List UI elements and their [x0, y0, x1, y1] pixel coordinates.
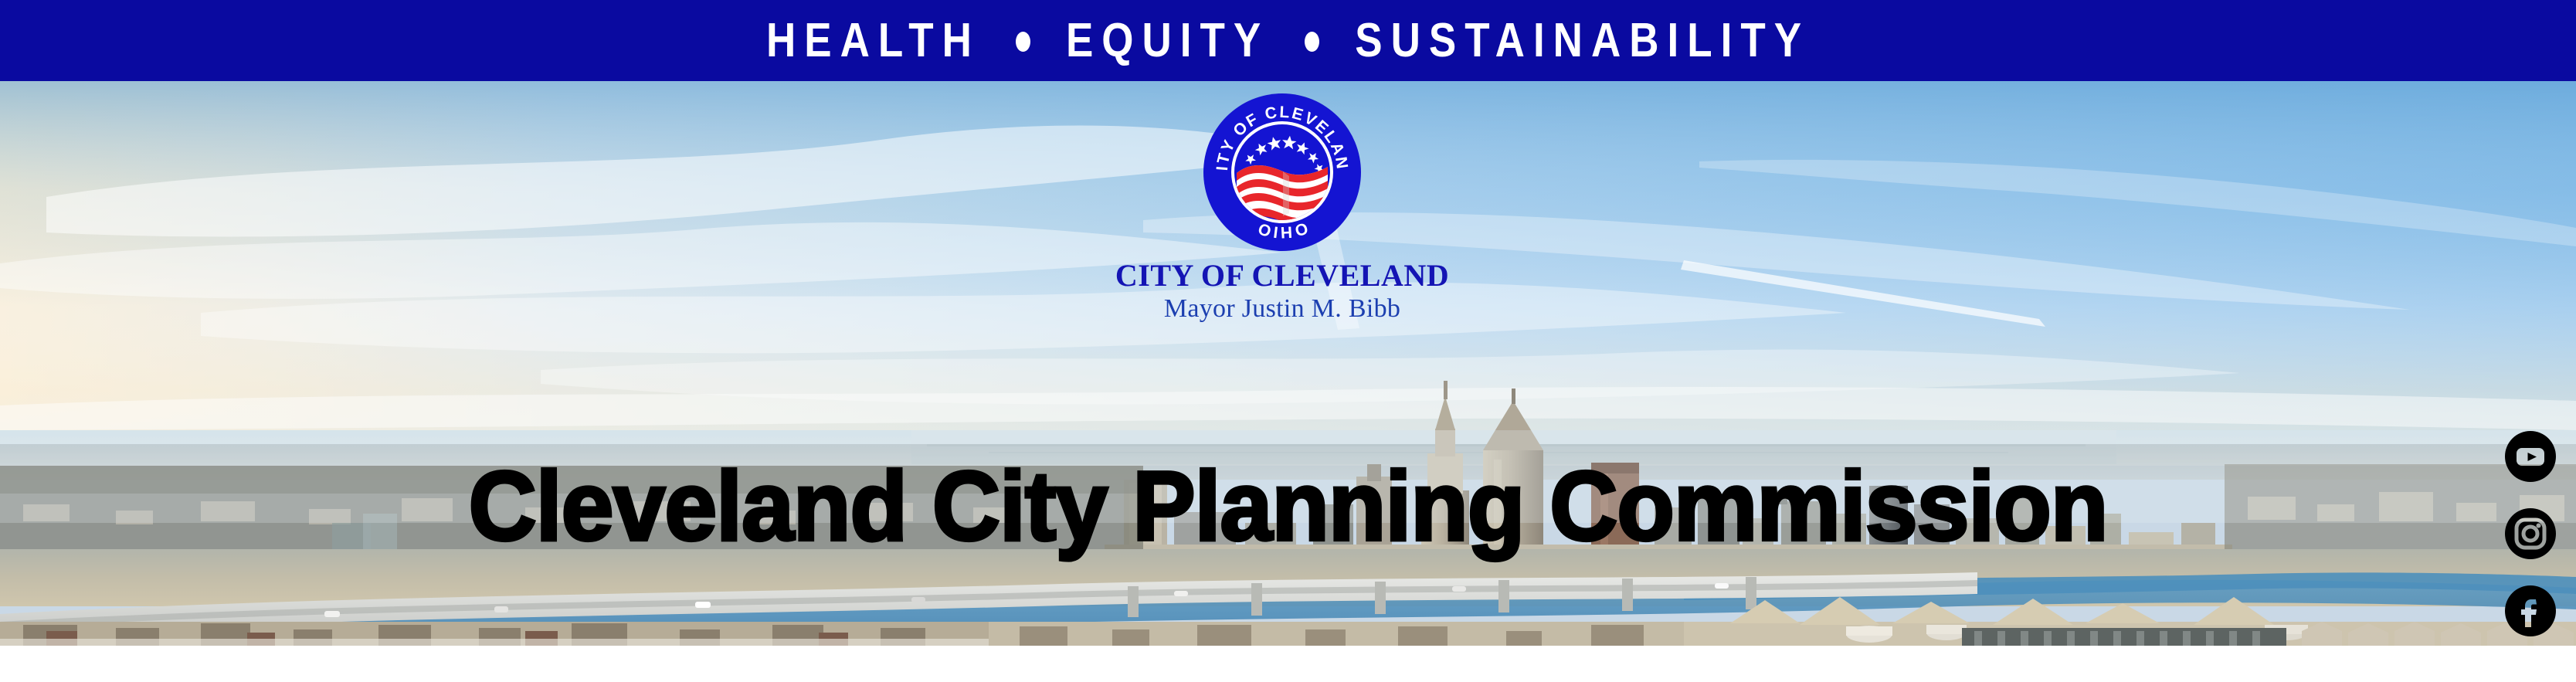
city-logo-block[interactable]: CITY OF CLEVELAND OHIO [1081, 91, 1483, 323]
mayor-name-subtitle: Mayor Justin M. Bibb [1081, 295, 1483, 323]
tagline-word-health: HEALTH [766, 16, 980, 65]
city-of-cleveland-seal-icon: CITY OF CLEVELAND OHIO [1201, 91, 1363, 253]
page-title: Cleveland City Planning Commission [0, 457, 2576, 555]
bullet-dot-icon-1 [1016, 32, 1030, 52]
top-tagline-banner: HEALTH EQUITY SUSTAINABILITY [0, 0, 2576, 81]
tagline-word-sustainability: SUSTAINABILITY [1355, 16, 1810, 65]
facebook-icon[interactable] [2505, 585, 2556, 636]
tagline-group: HEALTH EQUITY SUSTAINABILITY [766, 20, 1810, 61]
bullet-dot-icon-2 [1305, 32, 1319, 52]
city-name-title: CITY OF CLEVELAND [1081, 260, 1483, 292]
youtube-icon[interactable] [2505, 431, 2556, 482]
tagline-word-equity: EQUITY [1066, 16, 1269, 65]
instagram-icon[interactable] [2505, 508, 2556, 559]
page-root: HEALTH EQUITY SUSTAINABILITY [0, 0, 2576, 682]
social-links-rail[interactable] [2505, 431, 2556, 636]
